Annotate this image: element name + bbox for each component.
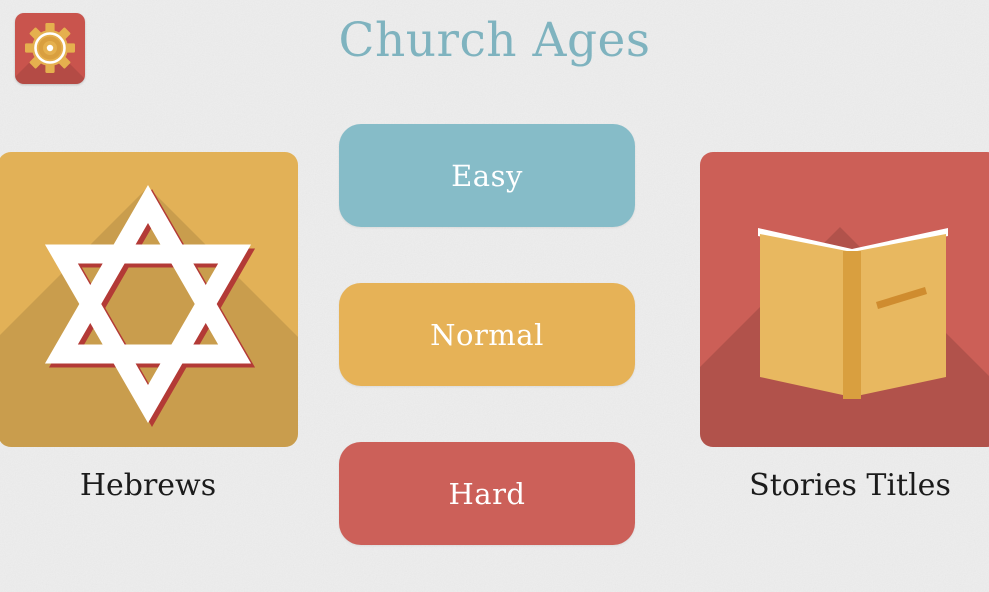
category-label-stories: Stories Titles bbox=[700, 469, 989, 503]
category-card-stories[interactable] bbox=[700, 152, 989, 447]
difficulty-button-hard[interactable]: Hard bbox=[339, 442, 635, 545]
difficulty-button-normal[interactable]: Normal bbox=[339, 283, 635, 386]
category-label-hebrews: Hebrews bbox=[0, 469, 298, 503]
open-book-icon bbox=[700, 152, 989, 447]
page-title: Church Ages bbox=[0, 10, 989, 72]
category-card-hebrews[interactable] bbox=[0, 152, 298, 447]
star-of-david-icon bbox=[0, 152, 298, 447]
category-hebrews[interactable]: Hebrews bbox=[0, 152, 298, 503]
category-stories[interactable]: Stories Titles bbox=[700, 152, 989, 503]
app-screen: Church Ages Hebrews bbox=[0, 0, 989, 592]
difficulty-button-easy[interactable]: Easy bbox=[339, 124, 635, 227]
